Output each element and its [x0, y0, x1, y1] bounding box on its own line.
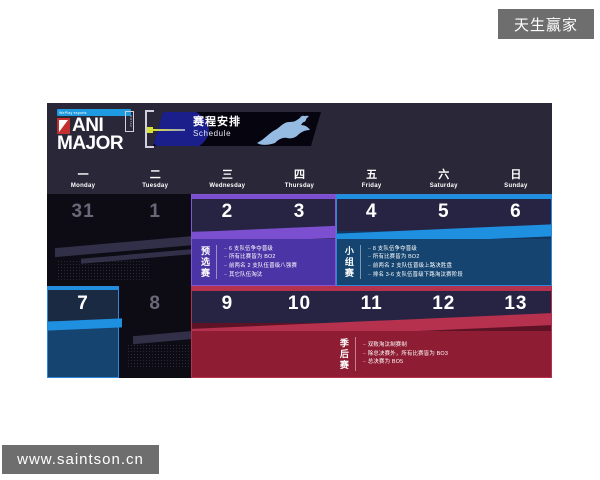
calendar-grid: 31 1 2 3 4 5 6 — [47, 194, 552, 378]
date-number: 13 — [480, 293, 552, 315]
bullet-item: –前两名 2 支队伍晋级上路决胜盘 — [368, 263, 463, 270]
stage-divider — [360, 245, 361, 279]
weekday-label-en: Friday — [362, 183, 382, 189]
banner-title-group: 赛程安排 Schedule — [193, 116, 241, 138]
bullet-item: –所有比赛皆为 BO2 — [368, 254, 463, 261]
sponsor-bar-label: WePlay esports — [59, 110, 87, 115]
stage-info-playoff: 季后赛 –双败淘汰制赛制 –除总决赛外，所有比赛皆为 BO3 –总决赛为 BO5 — [335, 332, 547, 376]
banner-title-en: Schedule — [193, 129, 241, 138]
bullet-text: 8 支队伍争夺晋级 — [373, 246, 417, 253]
date-number: 31 — [47, 201, 119, 223]
vertical-game-tag: DOTA2 — [125, 111, 134, 132]
weekday-label-en: Thursday — [285, 183, 314, 189]
weekday-label-cn: 二 — [150, 170, 161, 181]
bullet-item: –总决赛为 BO5 — [363, 359, 448, 366]
weekday-label-en: Monday — [71, 183, 95, 189]
date-number: 11 — [336, 293, 408, 315]
banner-title-cn: 赛程安排 — [193, 116, 241, 128]
date-number: 5 — [408, 201, 480, 223]
date-number: 8 — [119, 293, 191, 315]
weekday-label-en: Saturday — [430, 183, 458, 189]
stage-label-wildcard: 预选赛 — [196, 246, 213, 279]
date-number: 2 — [191, 201, 263, 223]
date-number: 10 — [263, 293, 335, 315]
date-number: 1 — [119, 201, 191, 223]
bullet-text: 其它队伍淘汰 — [229, 272, 263, 279]
weekday-label-cn: 一 — [78, 170, 89, 181]
hero-silhouette-icon — [251, 113, 313, 146]
bullet-text: 前两名 2 支队伍晋级上路决胜盘 — [373, 263, 452, 270]
bullet-item: –双败淘汰制赛制 — [363, 342, 448, 349]
bullet-item: –排名 3-6 支队伍晋级下路淘汰赛阶段 — [368, 272, 463, 279]
date-number: 7 — [47, 293, 119, 315]
bullet-text: 所有比赛皆为 BO2 — [373, 254, 420, 261]
weekday-label-en: Sunday — [504, 183, 527, 189]
weekday-label-cn: 六 — [438, 170, 449, 181]
bullet-text: 除总决赛外，所有比赛皆为 BO3 — [368, 351, 448, 358]
stage-divider — [216, 245, 217, 279]
bullet-item: –前两名 2 支队伍晋级八强赛 — [224, 263, 297, 270]
weekday-thursday: 四 Thursday — [263, 165, 335, 194]
calendar-row-1: 31 1 2 3 4 5 6 — [47, 194, 552, 286]
weekday-label-cn: 五 — [366, 170, 377, 181]
bullet-text: 总决赛为 BO5 — [368, 359, 403, 366]
weekday-label-en: Wednesday — [209, 183, 245, 189]
logo-word-major: MAJOR — [57, 134, 143, 153]
date-number: 12 — [408, 293, 480, 315]
stage-bullets-group: –8 支队伍争夺晋级 –所有比赛皆为 BO2 –前两名 2 支队伍晋级上路决胜盘… — [368, 246, 463, 279]
date-number: 4 — [336, 201, 408, 223]
weekday-saturday: 六 Saturday — [408, 165, 480, 194]
stage-info-group: 小组赛 –8 支队伍争夺晋级 –所有比赛皆为 BO2 –前两名 2 支队伍晋级上… — [340, 240, 547, 284]
weekday-label-cn: 日 — [510, 170, 521, 181]
stage-label-group: 小组赛 — [340, 246, 357, 279]
idle-dot-grid — [127, 344, 195, 368]
marker-line-icon — [153, 129, 185, 131]
date-number: 3 — [263, 201, 335, 223]
bullet-text: 排名 3-6 支队伍晋级下路淘汰赛阶段 — [373, 272, 463, 279]
bullet-item: –所有比赛皆为 BO2 — [224, 254, 297, 261]
stage-info-wildcard: 预选赛 –6 支队伍争夺晋级 –所有比赛皆为 BO2 –前两名 2 支队伍晋级八… — [196, 240, 335, 284]
bullet-item: –6 支队伍争夺晋级 — [224, 246, 297, 253]
watermark-top-right: 天生赢家 — [498, 9, 594, 39]
weekday-label-cn: 四 — [294, 170, 305, 181]
date-number: 6 — [480, 201, 552, 223]
bullet-item: –除总决赛外，所有比赛皆为 BO3 — [363, 351, 448, 358]
bullet-text: 所有比赛皆为 BO2 — [229, 254, 276, 261]
stage-bullets-wildcard: –6 支队伍争夺晋级 –所有比赛皆为 BO2 –前两名 2 支队伍晋级八强赛 –… — [224, 246, 297, 279]
weekday-sunday: 日 Sunday — [480, 165, 552, 194]
stage-label-playoff: 季后赛 — [335, 338, 352, 371]
poster-header: WePlay esports ANI MAJOR DOTA2 赛程安排 — [47, 103, 552, 165]
calendar-row-2: 7 8 9 10 11 12 13 — [47, 286, 552, 378]
weekday-friday: 五 Friday — [336, 165, 408, 194]
bullet-text: 前两名 2 支队伍晋级八强赛 — [229, 263, 297, 270]
weekday-monday: 一 Monday — [47, 165, 119, 194]
weekday-label-en: Tuesday — [142, 183, 168, 189]
date-number: 9 — [191, 293, 263, 315]
bullet-item: –其它队伍淘汰 — [224, 272, 297, 279]
watermark-bottom-left: www.saintson.cn — [2, 445, 159, 474]
schedule-poster: WePlay esports ANI MAJOR DOTA2 赛程安排 — [47, 103, 552, 378]
stage-divider — [355, 337, 356, 371]
bullet-item: –8 支队伍争夺晋级 — [368, 246, 463, 253]
stage-bullets-playoff: –双败淘汰制赛制 –除总决赛外，所有比赛皆为 BO3 –总决赛为 BO5 — [363, 342, 448, 366]
dota-logo-icon — [57, 118, 70, 134]
schedule-banner: 赛程安排 Schedule — [145, 110, 321, 150]
bullet-text: 6 支队伍争夺晋级 — [229, 246, 273, 253]
weekday-tuesday: 二 Tuesday — [119, 165, 191, 194]
bullet-text: 双败淘汰制赛制 — [368, 342, 407, 349]
weekday-header-row: 一 Monday 二 Tuesday 三 Wednesday 四 Thursda… — [47, 165, 552, 194]
weekday-label-cn: 三 — [222, 170, 233, 181]
idle-dot-grid — [57, 260, 149, 282]
cell-wave-accent — [47, 318, 122, 330]
weekday-wednesday: 三 Wednesday — [191, 165, 263, 194]
